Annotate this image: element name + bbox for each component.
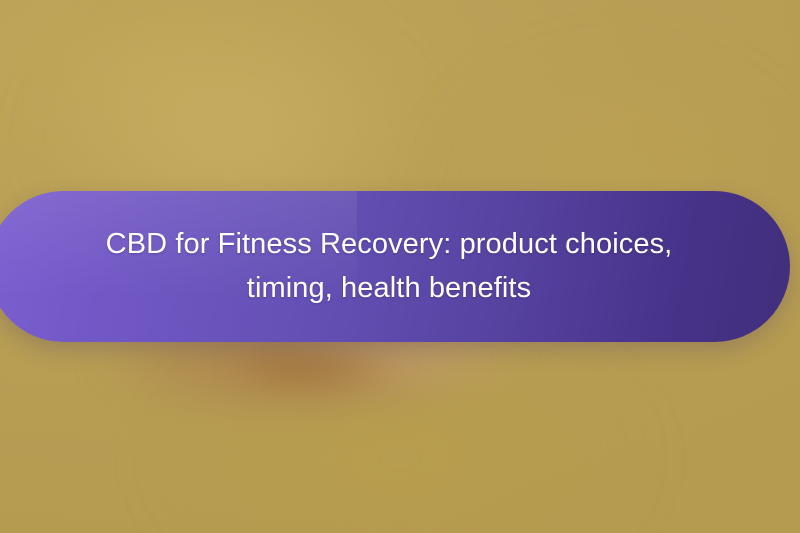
title-banner: CBD for Fitness Recovery: product choice… — [0, 191, 790, 342]
blurred-subject-shadow — [200, 352, 430, 408]
page-canvas: CBD for Fitness Recovery: product choice… — [0, 0, 800, 533]
page-title: CBD for Fitness Recovery: product choice… — [52, 223, 727, 310]
